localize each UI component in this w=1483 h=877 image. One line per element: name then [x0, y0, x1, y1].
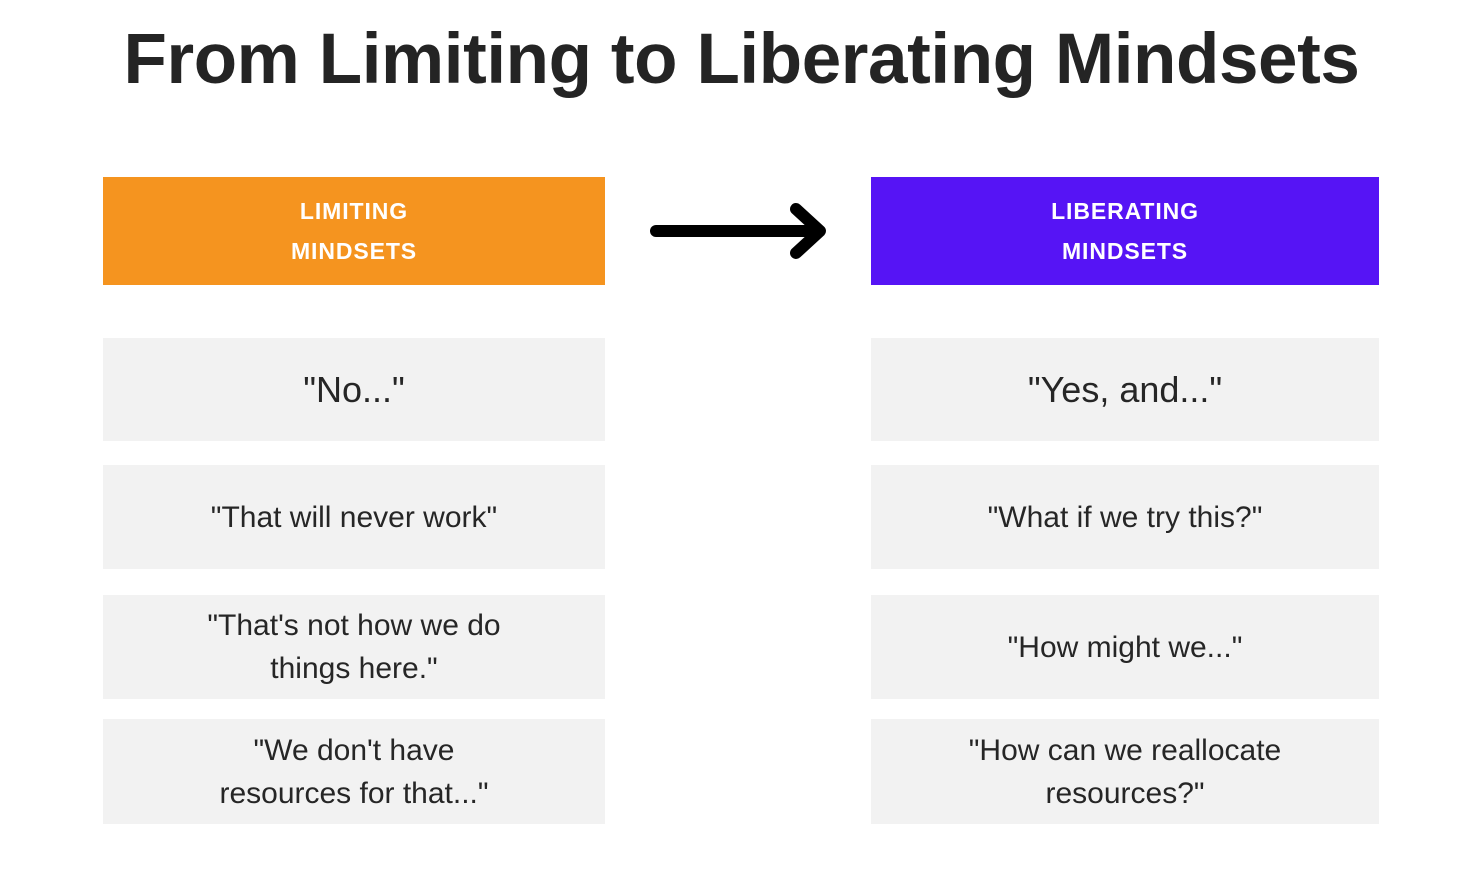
- limiting-row-4: "We don't have resources for that...": [103, 719, 605, 824]
- liberating-mindsets-header-text: LIBERATING MINDSETS: [1051, 191, 1199, 271]
- limiting-header-line-2: MINDSETS: [291, 231, 417, 271]
- limiting-row-1-text: "No...": [289, 368, 419, 411]
- liberating-mindsets-row-list: "Yes, and..." "What if we try this?" "Ho…: [871, 338, 1379, 824]
- liberating-row-4-line-1: "How can we reallocate: [969, 734, 1281, 767]
- liberating-row-2: "What if we try this?": [871, 465, 1379, 569]
- liberating-header-line-2: MINDSETS: [1051, 231, 1199, 271]
- limiting-row-4-line-1: "We don't have: [254, 734, 455, 767]
- limiting-row-1: "No...": [103, 338, 605, 441]
- infographic-canvas: From Limiting to Liberating Mindsets LIM…: [0, 0, 1483, 877]
- limiting-mindsets-row-list: "No..." "That will never work" "That's n…: [103, 338, 605, 824]
- liberating-row-2-text: "What if we try this?": [974, 496, 1277, 539]
- liberating-row-3-text: "How might we...": [994, 626, 1257, 669]
- column-limiting-mindsets: LIMITING MINDSETS "No..." "That will nev…: [103, 177, 605, 285]
- liberating-row-3-line-1: "How might we...": [1008, 631, 1243, 664]
- limiting-row-4-text: "We don't have resources for that...": [205, 729, 502, 815]
- liberating-row-1: "Yes, and...": [871, 338, 1379, 441]
- limiting-row-2-line-1: "That will never work": [211, 501, 497, 534]
- liberating-row-1-line-1: "Yes, and...": [1028, 369, 1222, 410]
- limiting-row-3-line-1: "That's not how we do: [207, 609, 500, 642]
- liberating-row-3: "How might we...": [871, 595, 1379, 699]
- limiting-header-line-1: LIMITING: [291, 191, 417, 231]
- liberating-row-4-text: "How can we reallocate resources?": [955, 729, 1295, 815]
- liberating-row-4: "How can we reallocate resources?": [871, 719, 1379, 824]
- limiting-row-3-line-2: things here.": [270, 652, 437, 685]
- limiting-row-1-line-1: "No...": [303, 369, 405, 410]
- limiting-row-3: "That's not how we do things here.": [103, 595, 605, 699]
- column-liberating-mindsets: LIBERATING MINDSETS "Yes, and..." "What …: [871, 177, 1379, 285]
- liberating-row-4-line-2: resources?": [1045, 777, 1204, 810]
- limiting-row-2-text: "That will never work": [197, 496, 511, 539]
- limiting-row-2: "That will never work": [103, 465, 605, 569]
- liberating-row-1-text: "Yes, and...": [1014, 368, 1236, 411]
- liberating-mindsets-header: LIBERATING MINDSETS: [871, 177, 1379, 285]
- page-title: From Limiting to Liberating Mindsets: [0, 24, 1483, 95]
- liberating-row-2-line-1: "What if we try this?": [988, 501, 1263, 534]
- limiting-row-4-line-2: resources for that...": [219, 777, 488, 810]
- limiting-row-3-text: "That's not how we do things here.": [193, 604, 514, 690]
- limiting-mindsets-header: LIMITING MINDSETS: [103, 177, 605, 285]
- arrow-right-icon: [648, 200, 834, 262]
- liberating-header-line-1: LIBERATING: [1051, 191, 1199, 231]
- limiting-mindsets-header-text: LIMITING MINDSETS: [291, 191, 417, 271]
